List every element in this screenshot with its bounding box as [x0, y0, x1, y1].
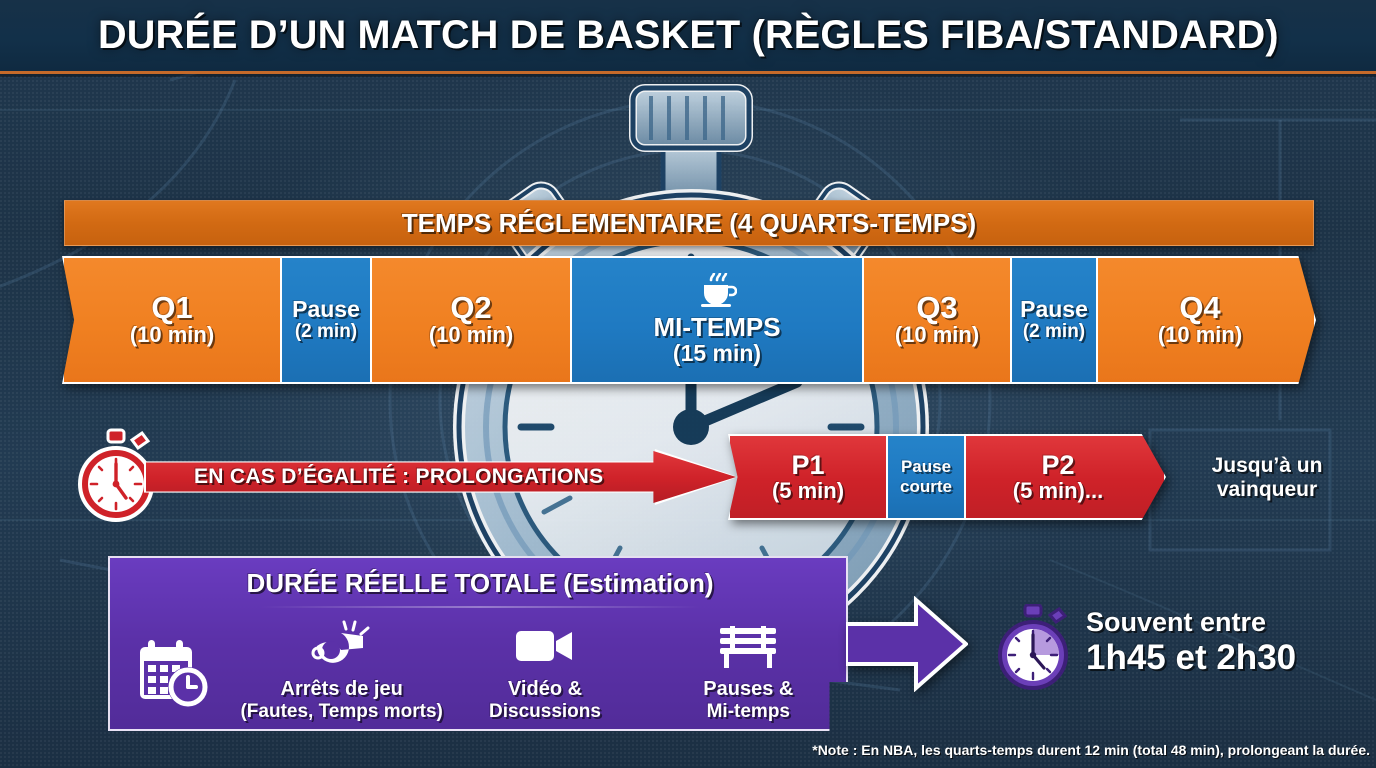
page-title: DURÉE D’UN MATCH DE BASKET (RÈGLES FIBA/…: [98, 13, 1279, 58]
segment-name: Q4: [1179, 292, 1220, 324]
video-camera-icon: [514, 618, 576, 674]
regulation-time-header: TEMPS RÉGLEMENTAIRE (4 QUARTS-TEMPS): [64, 200, 1314, 246]
regulation-time-header-label: TEMPS RÉGLEMENTAIRE (4 QUARTS-TEMPS): [402, 208, 976, 239]
factor-label-line2: Discussions: [489, 701, 601, 722]
timeline-segment-halftime[interactable]: MI-TEMPS (15 min): [570, 256, 864, 384]
calendar-clock-icon: [138, 646, 212, 702]
factor-label-line1: Vidéo &: [508, 678, 582, 700]
overtime-timeline: P1 (5 min) Pause courte P2 (5 min)...: [728, 434, 1166, 520]
segment-name: P1: [791, 451, 824, 479]
coffee-cup-icon: [697, 273, 737, 312]
footnote: *Note : En NBA, les quarts-temps durent …: [760, 742, 1370, 758]
segment-name: Q2: [450, 292, 491, 324]
factor-item-video[interactable]: Vidéo & Discussions: [443, 616, 646, 731]
factor-label-line1: Pauses &: [703, 678, 793, 700]
overtime-banner[interactable]: EN CAS D’ÉGALITÉ : PROLONGATIONS: [146, 451, 736, 503]
segment-duration: courte: [900, 477, 952, 497]
timeline-segment-q3[interactable]: Q3 (10 min): [862, 256, 1012, 384]
regulation-timeline: Q1 (10 min) Pause (2 min) Q2 (10 min): [62, 256, 1316, 384]
overtime-segment-short-pause[interactable]: Pause courte: [886, 434, 966, 520]
overtime-segment-p2[interactable]: P2 (5 min)...: [964, 434, 1166, 520]
segment-name: MI-TEMPS: [653, 314, 780, 341]
total-duration-panel: DURÉE RÉELLE TOTALE (Estimation): [108, 556, 848, 731]
overtime-segment-p1[interactable]: P1 (5 min): [728, 434, 888, 520]
segment-duration: (5 min): [772, 479, 844, 503]
factor-label-line2: (Fautes, Temps morts): [240, 701, 442, 722]
overtime-outcome-line1: Jusqu’à un: [1172, 454, 1362, 478]
factor-item-stoppages[interactable]: Arrêts de jeu (Fautes, Temps morts): [240, 616, 443, 731]
segment-duration: (10 min): [130, 323, 214, 348]
timeline-segment-pause-1[interactable]: Pause (2 min): [280, 256, 372, 384]
segment-name: Pause: [901, 457, 951, 477]
purple-stopwatch-icon: [990, 604, 1076, 690]
segment-duration: (10 min): [1158, 323, 1242, 348]
timeline-segment-pause-2[interactable]: Pause (2 min): [1010, 256, 1098, 384]
segment-name: P2: [1041, 451, 1074, 479]
factor-label: Vidéo & Discussions: [489, 678, 601, 723]
segment-duration: (2 min): [1023, 321, 1085, 342]
page-title-bar: DURÉE D’UN MATCH DE BASKET (RÈGLES FIBA/…: [0, 0, 1376, 74]
segment-name: Pause: [1020, 298, 1088, 321]
panel-divider: [260, 606, 700, 608]
total-duration-title: DURÉE RÉELLE TOTALE (Estimation): [110, 568, 850, 599]
segment-name: Q1: [151, 292, 192, 324]
factor-label-line1: Arrêts de jeu: [281, 678, 403, 700]
infographic-canvas: DURÉE D’UN MATCH DE BASKET (RÈGLES FIBA/…: [0, 0, 1376, 768]
bench-icon: [716, 618, 780, 674]
whistle-icon: [311, 618, 373, 674]
overtime-outcome-note: Jusqu’à un vainqueur: [1172, 454, 1362, 503]
segment-name: Pause: [292, 298, 360, 321]
calendar-clock-block: [110, 616, 240, 731]
segment-duration: (5 min)...: [1013, 479, 1103, 503]
segment-name: Q3: [916, 292, 957, 324]
overtime-outcome-line2: vainqueur: [1172, 478, 1362, 502]
result-line1: Souvent entre: [1086, 608, 1368, 638]
result-line2: 1h45 et 2h30: [1086, 638, 1368, 677]
factor-label: Arrêts de jeu (Fautes, Temps morts): [240, 678, 442, 723]
timeline-segment-q1[interactable]: Q1 (10 min): [62, 256, 282, 384]
factor-label-line2: Mi-temps: [707, 701, 790, 722]
segment-duration: (2 min): [295, 321, 357, 342]
segment-duration: (10 min): [429, 323, 513, 348]
timeline-segment-q4[interactable]: Q4 (10 min): [1096, 256, 1316, 384]
segment-duration: (15 min): [673, 341, 761, 367]
total-duration-result: Souvent entre 1h45 et 2h30: [1086, 608, 1368, 677]
segment-duration: (10 min): [895, 323, 979, 348]
timeline-segment-q2[interactable]: Q2 (10 min): [370, 256, 572, 384]
total-duration-factors: Arrêts de jeu (Fautes, Temps morts) Vidé…: [110, 616, 850, 731]
purple-right-arrow-icon: [846, 596, 968, 692]
overtime-banner-label: EN CAS D’ÉGALITÉ : PROLONGATIONS: [194, 465, 603, 489]
factor-label: Pauses & Mi-temps: [703, 678, 793, 723]
overtime-row: EN CAS D’ÉGALITÉ : PROLONGATIONS P1 (5 m…: [0, 424, 1376, 530]
factor-item-breaks[interactable]: Pauses & Mi-temps: [647, 616, 850, 731]
